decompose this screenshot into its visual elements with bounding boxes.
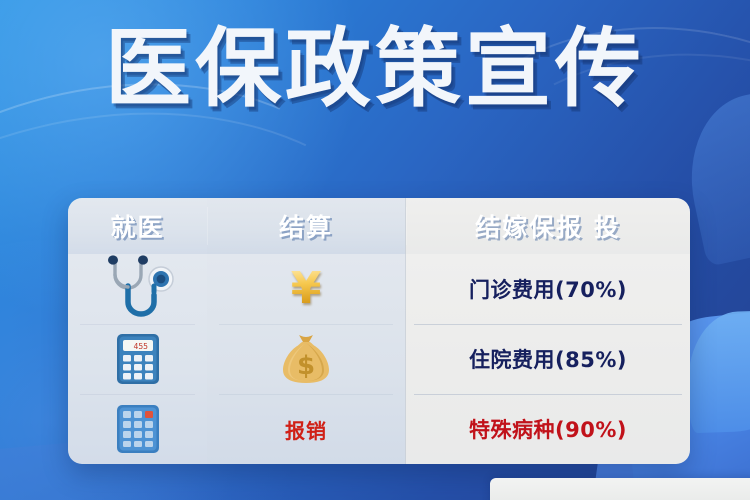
poster-root: 医保政策宣传 就医 结算 结嫁保报 投 xyxy=(0,0,750,500)
table-header-cell-3: 结嫁保报 投 xyxy=(405,198,690,254)
table-row: $ xyxy=(207,324,405,394)
table-row: ¥ xyxy=(207,254,405,324)
table-column-1: 455 xyxy=(68,254,207,464)
page-title: 医保政策宣传 xyxy=(0,26,750,112)
benefit-value-special-disease: 特殊病种(90%) xyxy=(469,414,627,444)
calculator-icon: 455 xyxy=(115,332,161,386)
svg-text:$: $ xyxy=(297,351,315,381)
table-row xyxy=(68,254,207,324)
table-column-3: 门诊费用(70%) 住院费用(85%) 特殊病种(90%) xyxy=(405,254,690,464)
table-row: 455 xyxy=(68,324,207,394)
calculator-icon xyxy=(115,403,161,455)
reimbursement-label: 报销 xyxy=(285,415,327,444)
table-header-label-3: 结嫁保报 投 xyxy=(475,208,621,244)
table-column-2: ¥ $ 报销 xyxy=(207,254,405,464)
svg-text:455: 455 xyxy=(133,342,148,351)
table-header-row: 就医 结算 结嫁保报 投 xyxy=(68,198,690,254)
table-row: 报销 xyxy=(207,394,405,464)
table-row: 门诊费用(70%) xyxy=(406,254,690,324)
yen-symbol-icon: ¥ xyxy=(291,267,322,311)
table-header-label-2: 结算 xyxy=(279,208,333,244)
money-bag-icon: $ xyxy=(278,332,334,386)
bottom-panel xyxy=(490,478,750,500)
table-header-cell-1: 就医 xyxy=(68,198,207,254)
benefit-value-inpatient: 住院费用(85%) xyxy=(469,344,627,374)
petal-shape-highlight xyxy=(686,311,750,434)
table-header-cell-2: 结算 xyxy=(207,198,405,254)
benefit-value-outpatient: 门诊费用(70%) xyxy=(469,274,627,304)
table-header-label-1: 就医 xyxy=(110,208,164,244)
table-row: 特殊病种(90%) xyxy=(406,394,690,464)
table-body: 455 xyxy=(68,254,690,464)
stethoscope-icon xyxy=(101,255,175,323)
table-row xyxy=(68,394,207,464)
info-card: 就医 结算 结嫁保报 投 xyxy=(68,198,690,464)
table-row: 住院费用(85%) xyxy=(406,324,690,394)
